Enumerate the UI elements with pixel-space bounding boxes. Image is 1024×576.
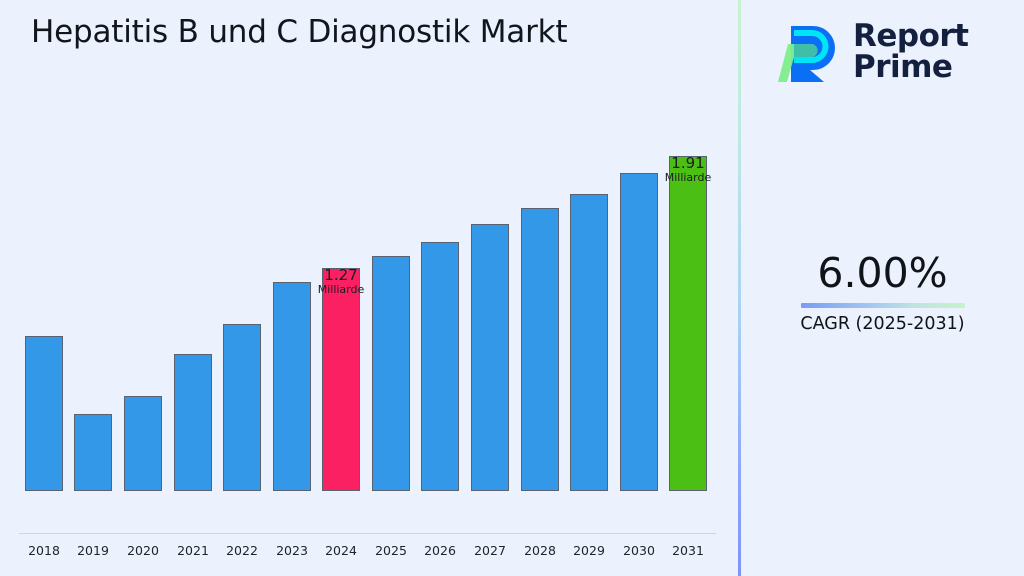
bar-2027 [471,224,509,491]
brand-wordmark: Report Prime [853,21,969,83]
bar-2019 [74,414,112,491]
side-panel: Report Prime 6.00% CAGR (2025-2031) [741,0,1024,576]
report-prime-r-logo-icon [777,20,841,84]
bar-2026 [421,242,459,491]
bar-2030 [620,173,658,491]
bar-2025 [372,256,410,491]
bar-chart-plot-area: 1.27Milliarde1.91Milliarde [0,0,738,534]
bar-2021 [174,354,212,491]
cagr-block: 6.00% CAGR (2025-2031) [741,252,1024,334]
x-axis-line [19,533,716,534]
cagr-caption: CAGR (2025-2031) [741,314,1024,334]
bar-2022 [223,324,261,491]
bar-2020 [124,396,162,491]
brand-line-1: Report [853,21,969,52]
brand-line-2: Prime [853,52,969,83]
cagr-value: 6.00% [741,252,1024,295]
bar-2028 [521,208,559,491]
bar-2029 [570,194,608,491]
bar-2023 [273,282,311,491]
x-tick-2031: 2031 [658,543,718,558]
cagr-divider-rule [801,303,965,308]
chart-panel: Hepatitis B und C Diagnostik Markt 1.27M… [0,0,738,576]
bar-2031 [669,156,707,491]
brand-logo: Report Prime [777,8,1007,96]
chart-infographic: Hepatitis B und C Diagnostik Markt 1.27M… [0,0,1024,576]
bar-2024 [322,268,360,491]
bar-2018 [25,336,63,491]
